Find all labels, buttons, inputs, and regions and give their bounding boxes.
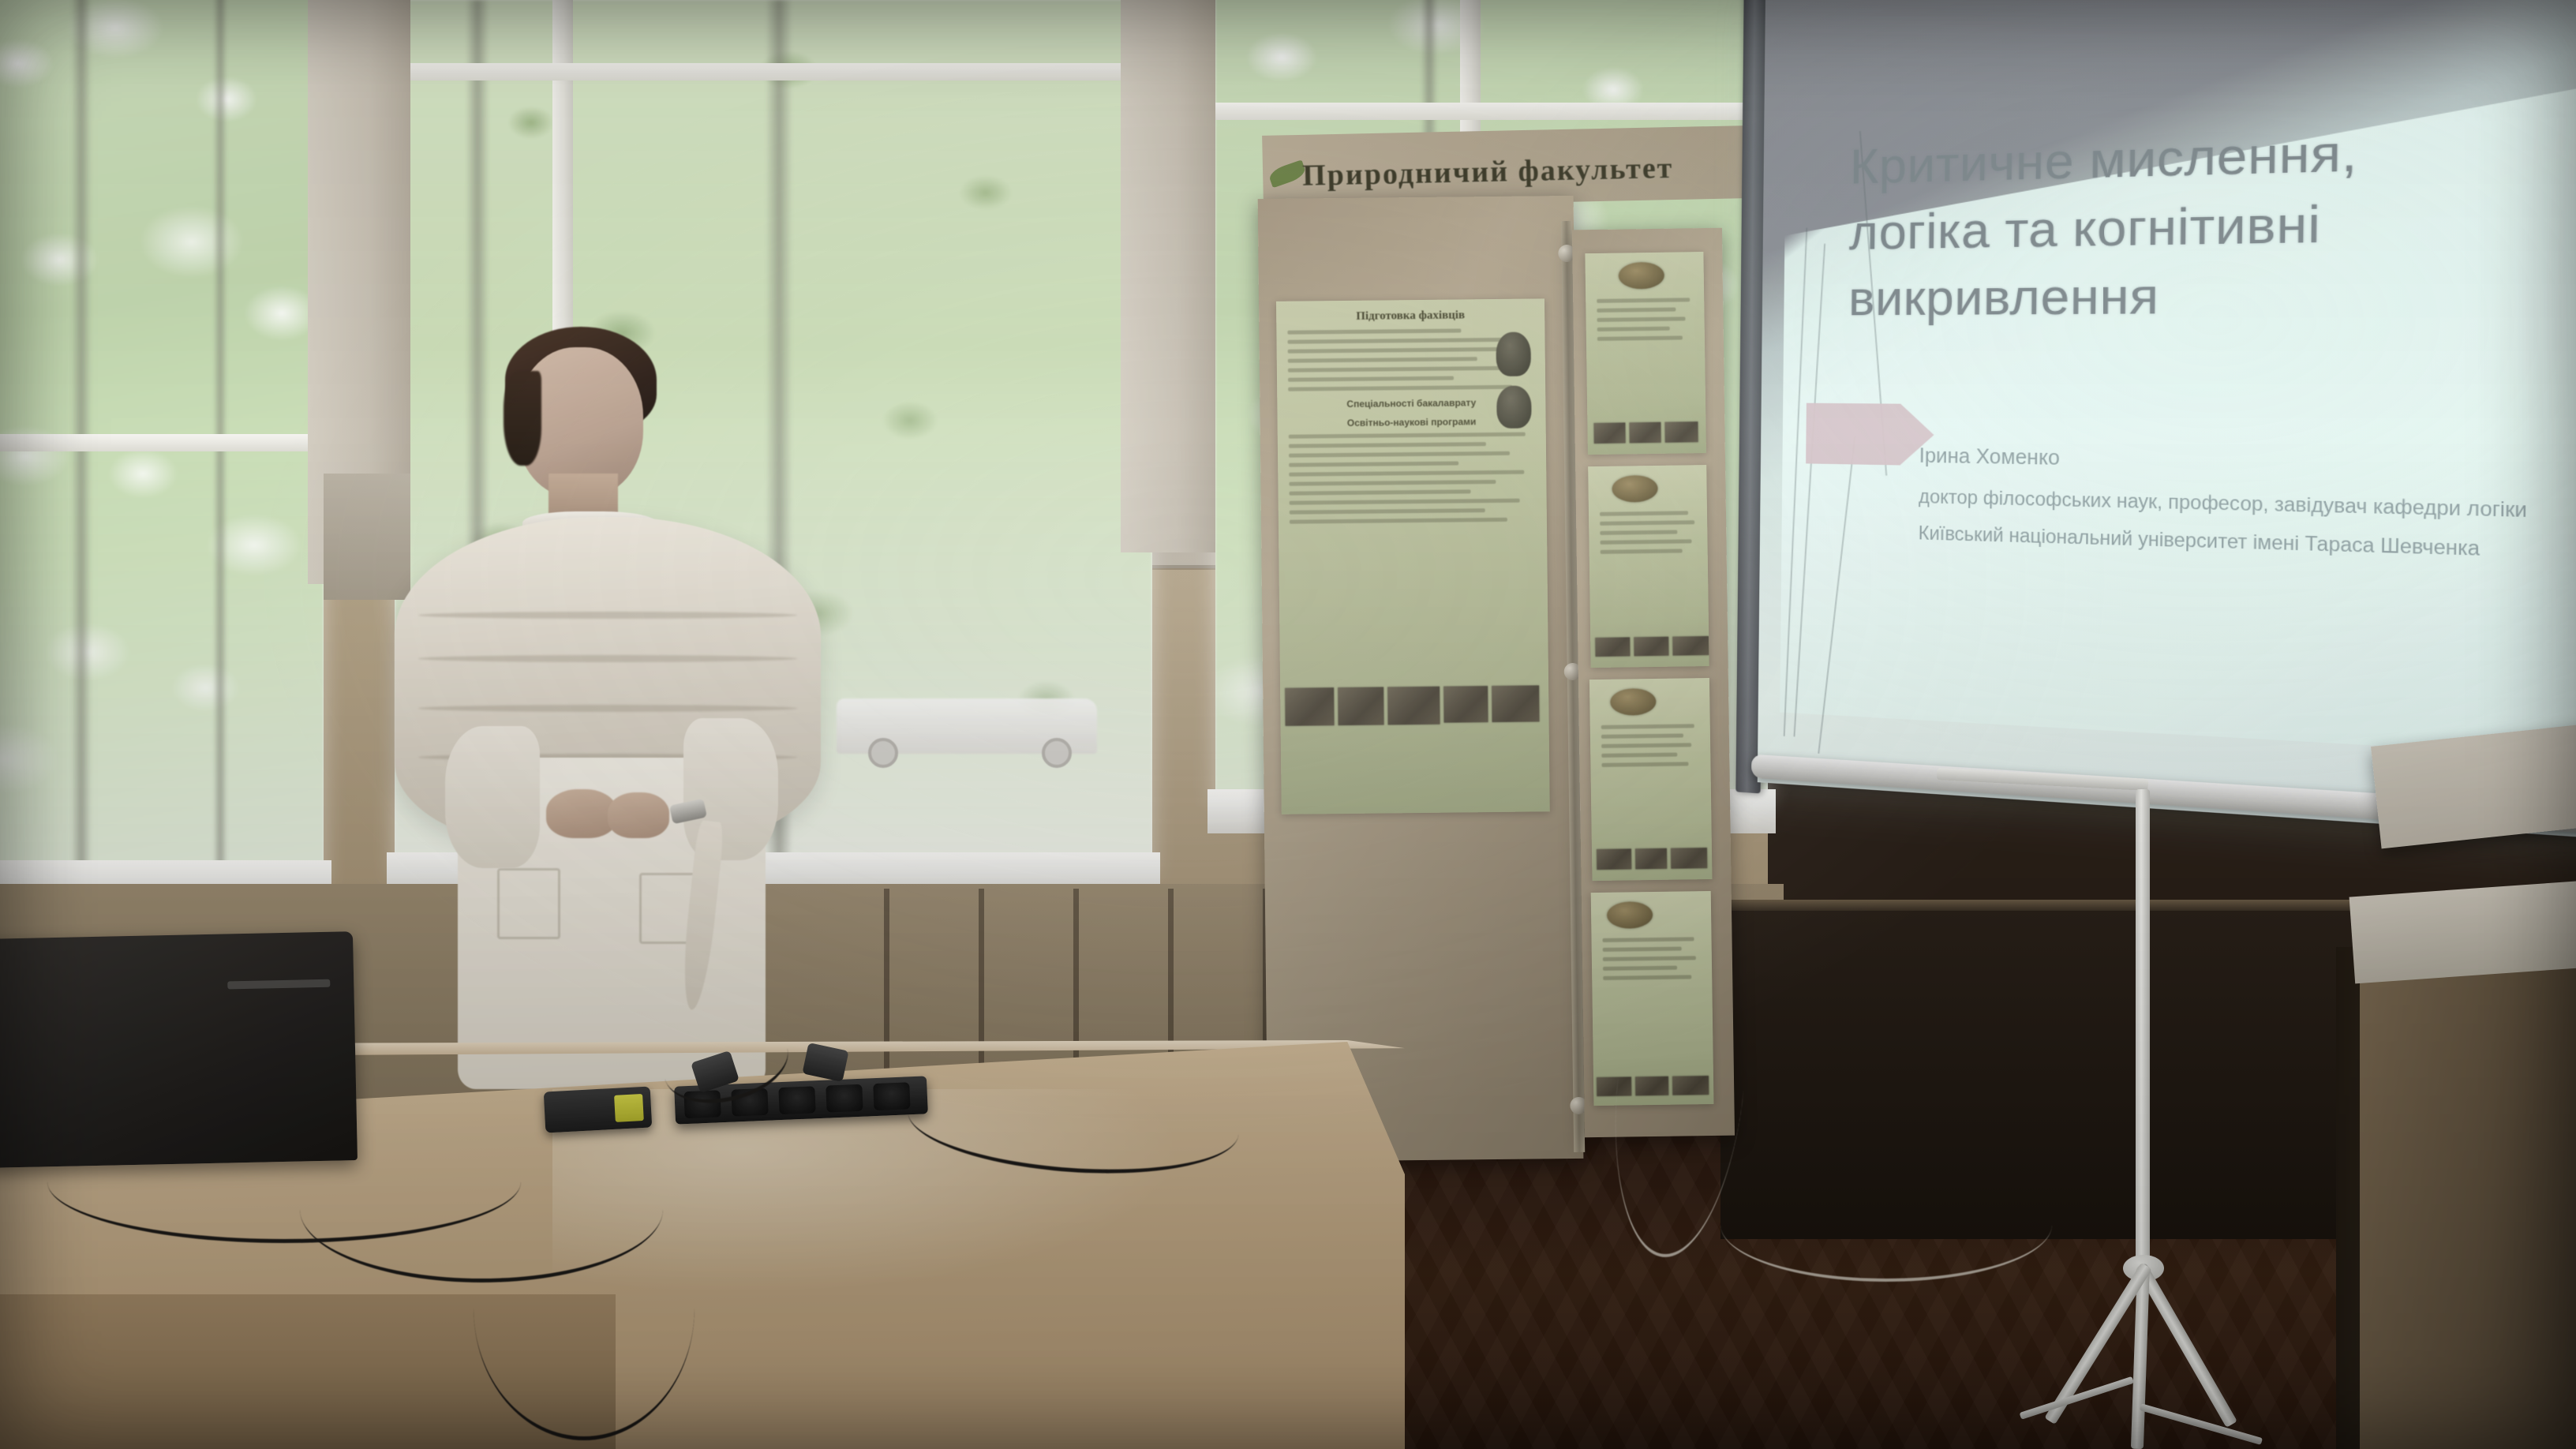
screen-surface: Критичне мислення, логіка та когнітивні … (1758, 0, 2576, 844)
slide-title: Критичне мислення, логіка та когнітивні … (1848, 113, 2534, 332)
poster-photo (1492, 685, 1539, 722)
wall-pillar (1121, 0, 1215, 552)
badge-icon (1607, 901, 1653, 929)
leaf-icon (1267, 159, 1308, 188)
poster-photo (1671, 848, 1707, 869)
presenter-hair-side (504, 371, 541, 466)
badge-icon (1619, 262, 1664, 290)
window-left (0, 0, 324, 884)
window-mullion-horizontal (395, 63, 1152, 80)
poster-sheet-right (1589, 678, 1713, 881)
poster-photo (1387, 687, 1440, 725)
poster-photo (1664, 421, 1698, 443)
cable (1720, 1168, 2052, 1282)
presenter-hand (608, 792, 669, 838)
poster-photo (1672, 636, 1709, 656)
power-adapter[interactable] (544, 1087, 653, 1133)
window-mullion-horizontal (1215, 103, 1768, 120)
monitor-vent (227, 979, 330, 990)
poster-photo (1635, 848, 1667, 870)
emblem-icon (1496, 386, 1532, 429)
poster-sheet-left: Підготовка фахівців Спеціальності бакала… (1276, 298, 1550, 814)
poster-sheet-right (1585, 252, 1706, 455)
badge-icon (1612, 475, 1657, 503)
presenter (379, 316, 837, 1073)
poster-photo (1629, 422, 1661, 444)
power-socket[interactable] (873, 1082, 910, 1110)
slide-presenter-role: доктор філософських наук, професор, заві… (1919, 486, 2576, 526)
poster-photo-strip (1285, 685, 1539, 725)
cable (474, 1176, 695, 1440)
presenter-hand (546, 789, 617, 838)
poster-photo (1595, 637, 1630, 657)
lecture-room-photo: Природничий факультет Підготовка фахівці… (0, 0, 2576, 1449)
lectern-body (2360, 939, 2576, 1449)
power-socket[interactable] (778, 1086, 815, 1114)
poster-photo (1443, 686, 1488, 723)
tripod-pole (2136, 789, 2150, 1279)
poster-sheet-right (1588, 465, 1709, 668)
poster-photo (1285, 687, 1334, 726)
poster-photo (1597, 848, 1631, 870)
poster-photo (1634, 637, 1668, 657)
badge-icon (1610, 688, 1656, 716)
poster-header-label: Природничий факультет (1302, 151, 1674, 193)
window-mullion-horizontal (0, 434, 324, 451)
poster-panel-left: Підготовка фахівців Спеціальності бакала… (1258, 196, 1584, 1162)
lectern-shelf (2349, 879, 2576, 984)
poster-sheet-title: Підготовка фахівців (1276, 308, 1544, 324)
car-wheel (868, 738, 898, 768)
poster-photo (1593, 422, 1625, 444)
car-wheel (1042, 738, 1072, 768)
poster-photo (1338, 687, 1383, 725)
presenter-pocket (497, 868, 560, 939)
presenter-arm-left (445, 726, 540, 868)
slide-title-line: викривлення (1848, 257, 2533, 331)
adapter-label (614, 1094, 644, 1122)
dark-cabinet-edge (1720, 900, 2431, 911)
power-socket[interactable] (826, 1084, 863, 1113)
emblem-icon (1496, 332, 1531, 376)
